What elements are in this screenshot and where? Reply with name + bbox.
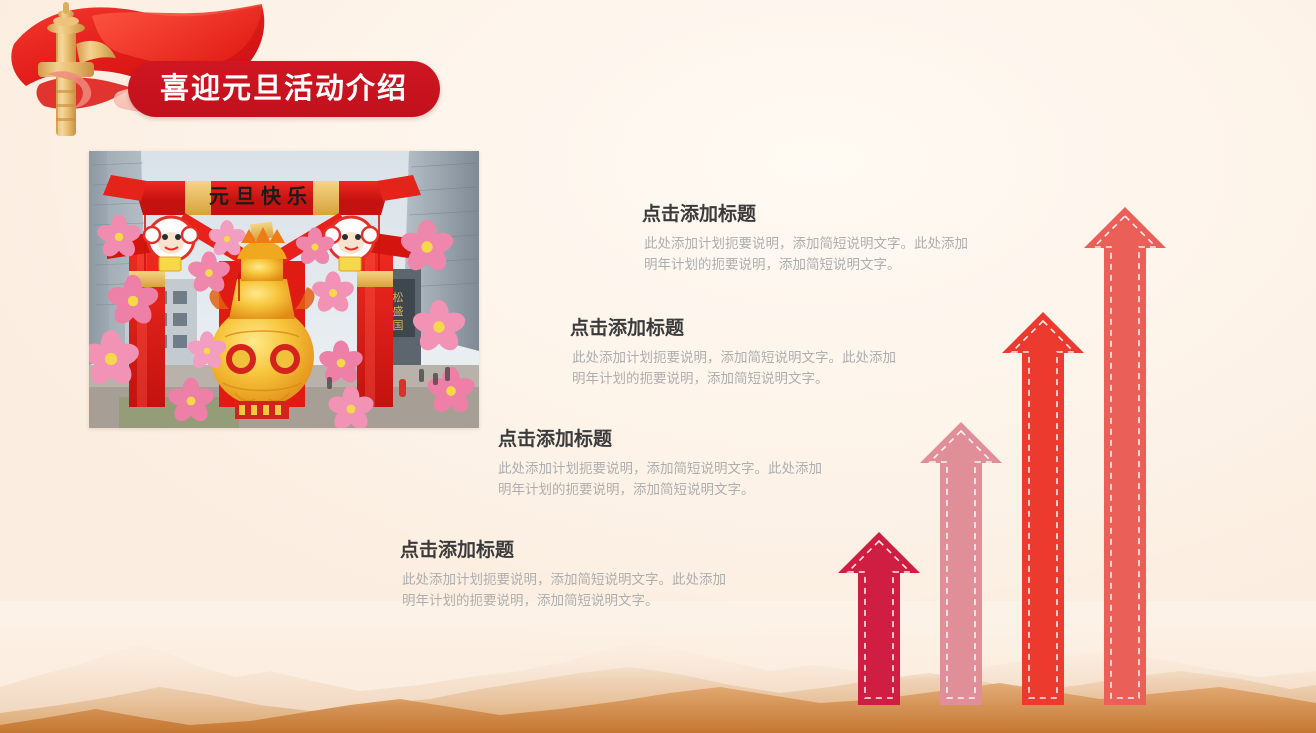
text-block-4-body: 此处添加计划扼要说明，添加简短说明文字。此处添加 明年计划的扼要说明，添加简短说… [402,570,800,612]
text-block-4-title: 点击添加标题 [400,540,800,563]
slide-title-banner[interactable]: 喜迎元旦活动介绍 [128,61,440,117]
arrow-bar-1[interactable]: 提升 25% [836,530,922,705]
svg-text:元旦快乐: 元旦快乐 [209,184,313,208]
text-block-4-body-line-2: 明年计划的扼要说明，添加简短说明文字。 [402,591,800,612]
svg-text:盛: 盛 [393,304,404,318]
slide-canvas: 喜迎元旦活动介绍 [0,0,1316,733]
arrow-bar-3[interactable]: 提升 65% [1000,310,1086,705]
arrow-bar-2[interactable]: 提升 40% [918,420,1004,705]
arrow-bar-4[interactable]: 提升 80% [1082,205,1168,705]
text-block-4: 点击添加标题 此处添加计划扼要说明，添加简短说明文字。此处添加 明年计划的扼要说… [400,540,800,612]
slide-header: 喜迎元旦活动介绍 [0,0,470,138]
slide-title-text: 喜迎元旦活动介绍 [160,75,408,104]
svg-text:松: 松 [393,290,404,304]
text-block-4-body-line-1: 此处添加计划扼要说明，添加简短说明文字。此处添加 [402,570,800,591]
festival-photo: 松 盛 国 [89,151,479,428]
arrow-bar-chart: 提升 25% 提升 40% 提升 65% [820,180,1160,705]
svg-text:国: 国 [393,319,404,332]
